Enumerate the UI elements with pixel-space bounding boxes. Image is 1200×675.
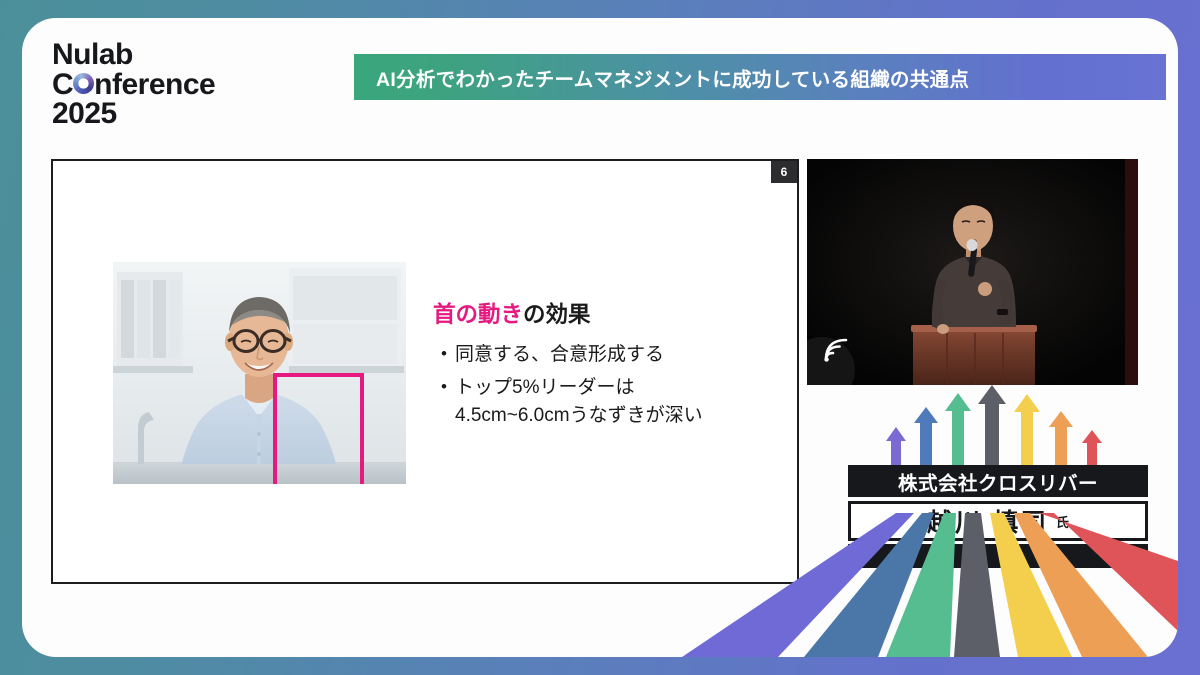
bullet-text: 同意する、合意形成する <box>455 341 664 369</box>
pink-face-bounding-box <box>273 373 364 484</box>
presentation-stage: Nulab Cnference 2025 AI分析でわかったチームマネジメントに… <box>22 18 1178 657</box>
bullet-text: トップ5%リーダーは 4.5cm~6.0cmうなずきが深い <box>455 374 703 430</box>
bullet-dot-icon: • <box>433 341 455 369</box>
seven-ascending-arrows-icon <box>882 385 1122 467</box>
cast-stream-icon[interactable] <box>823 337 849 363</box>
slide-page-number-badge: 6 <box>771 161 797 183</box>
nulab-conference-logo: Nulab Cnference 2025 <box>52 40 302 129</box>
speaker-at-podium-with-microphone <box>807 159 1138 385</box>
slide-heading-rest: の効果 <box>523 302 591 327</box>
slide-heading-highlight: 首の動き <box>433 302 523 327</box>
logo-conference-suffix: nference <box>73 68 215 101</box>
speaker-branding-graphic: 株式会社クロスリバー 越川 慎司 氏 <box>682 385 1178 657</box>
session-title-text: AI分析でわかったチームマネジメントに成功している組織の共通点 <box>354 63 969 92</box>
gradient-ring-o-icon <box>73 73 94 94</box>
logo-line-conference: Cnference <box>52 70 302 100</box>
logo-conference-prefix: C <box>52 68 73 101</box>
slide-bullet-item: • 同意する、合意形成する <box>433 341 778 369</box>
slide-heading: 首の動きの効果 <box>433 301 778 329</box>
company-name: 株式会社クロスリバー <box>848 465 1148 497</box>
live-speaker-video[interactable] <box>807 159 1138 385</box>
logo-line-nulab: Nulab <box>52 40 302 70</box>
logo-line-year: 2025 <box>52 99 302 129</box>
session-title-banner: AI分析でわかったチームマネジメントに成功している組織の共通点 <box>354 54 1166 100</box>
seven-color-rays-icon <box>682 513 1178 657</box>
smiling-businessman-photo <box>113 262 406 484</box>
bullet-dot-icon: • <box>433 374 455 430</box>
